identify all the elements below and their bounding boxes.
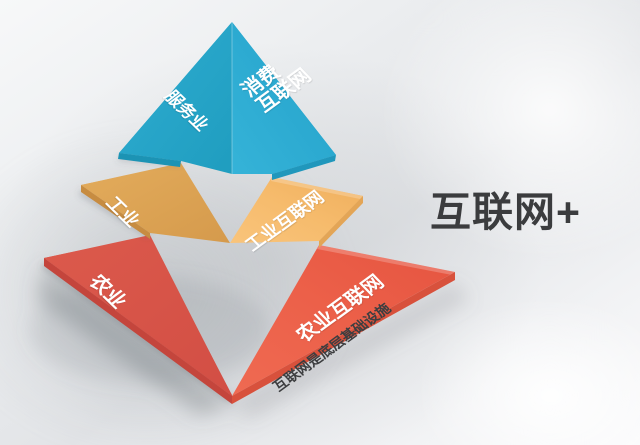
tier-top[interactable] bbox=[118, 22, 336, 180]
pyramid-diagram-canvas: 服务业 消费 互联网 工业 工业互联网 农业 农业互联网 互联网是底层基础设施 … bbox=[0, 0, 640, 445]
page-title: 互联网+ bbox=[430, 178, 581, 238]
